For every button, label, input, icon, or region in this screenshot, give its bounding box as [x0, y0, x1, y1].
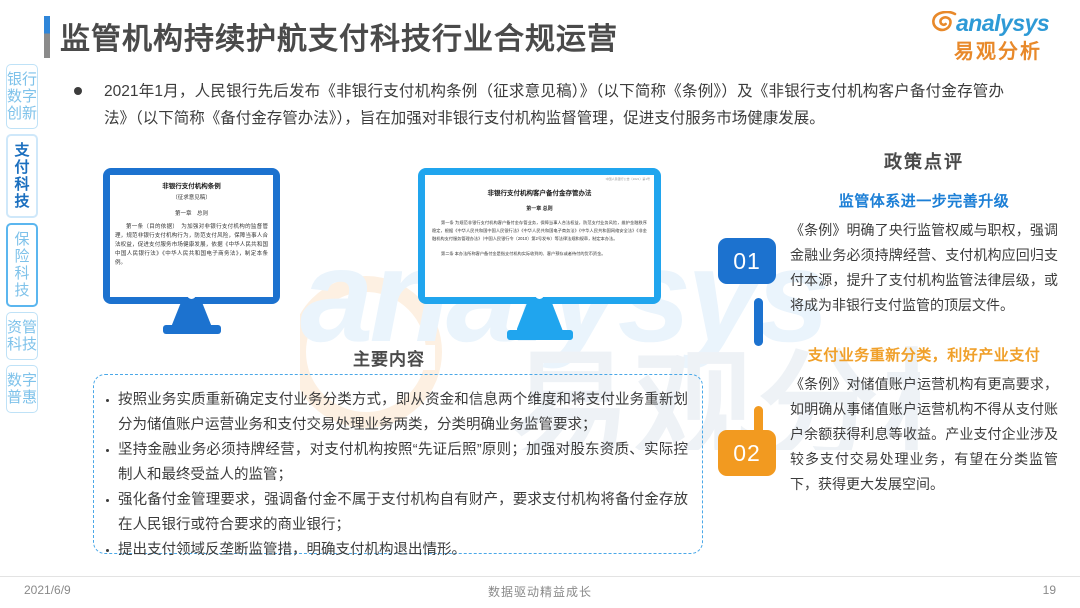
monitor-bezel: 非银行支付机构条例 （征求意见稿） 第一章 总则 第一条（目的依据） 为加强对非…: [103, 168, 280, 304]
commentary-heading: 支付业务重新分类，利好产业支付: [790, 344, 1058, 365]
footer-page-number: 19: [1043, 583, 1056, 597]
document-chapter: 第一章 总则: [425, 205, 654, 212]
monitor-bezel: 中国人民银行公告〔2021〕第1号 非银行支付机构客户备付金存管办法 第一章 总…: [418, 168, 661, 304]
document-title: 非银行支付机构客户备付金存管办法: [425, 187, 654, 197]
bullet-dot-icon: [74, 87, 82, 95]
monitor-stand-base: [507, 330, 573, 340]
logo-swoosh-icon: [932, 11, 958, 33]
monitor-regulation-document: 非银行支付机构条例 （征求意见稿） 第一章 总则 第一条（目的依据） 为加强对非…: [103, 168, 280, 304]
page-title: 监管机构持续护航支付科技行业合规运营: [60, 14, 618, 58]
monitor-stand-neck: [172, 304, 212, 326]
logo-en-text: analysys: [956, 10, 1049, 37]
commentary-body: 《条例》明确了央行监管权威与职权，强调金融业务必须持牌经营、支付机构应回归支付本…: [790, 218, 1058, 318]
title-accent-bar: [44, 16, 50, 58]
document-stamp: 中国人民银行公告〔2021〕第1号: [425, 177, 650, 181]
badge-number-01: 01: [718, 238, 776, 284]
footer: 2021/6/9 数据驱动精益成长 19: [0, 580, 1080, 606]
list-item: 坚持金融业务必须持牌经营，对支付机构按照“先证后照”原则；加强对股东资质、实际控…: [102, 438, 688, 488]
document-body-second: 第二条 本办法所称客户备付金是指支付机构实际收到的、客户预存或者待付的货币资金。: [432, 250, 647, 258]
monitor-custody-document: 中国人民银行公告〔2021〕第1号 非银行支付机构客户备付金存管办法 第一章 总…: [418, 168, 661, 304]
sidebar-item-label: 支付科技: [8, 142, 36, 210]
sidebar-item-payment-tech[interactable]: 支付科技: [6, 134, 38, 218]
monitor-screen: 中国人民银行公告〔2021〕第1号 非银行支付机构客户备付金存管办法 第一章 总…: [425, 175, 654, 297]
main-content-list: 按照业务实质重新确定支付业务分类方式，即从资金和信息两个维度和将支付业务重新划分…: [94, 375, 702, 563]
sidebar-item-label: 数字普惠: [7, 372, 37, 406]
commentary-heading: 监管体系进一步完善升级: [790, 190, 1058, 211]
sidebar-item-digital-inclusive-finance[interactable]: 数字普惠: [6, 365, 38, 413]
policy-commentary-panel: 政策点评 监管体系进一步完善升级 《条例》明确了央行监管权威与职权，强调金融业务…: [790, 148, 1058, 523]
intro-text: 2021年1月，人民银行先后发布《非银行支付机构条例（征求意见稿）》（以下简称《…: [104, 78, 1004, 132]
document-title: 非银行支付机构条例: [110, 180, 273, 190]
sidebar-item-label: 保险科技: [8, 231, 36, 299]
intro-paragraph: 2021年1月，人民银行先后发布《非银行支付机构条例（征求意见稿）》（以下简称《…: [74, 78, 1004, 132]
sidebar-item-asset-management-tech[interactable]: 资管科技: [6, 312, 38, 360]
monitor-stand-base: [163, 325, 221, 334]
logo-cn-text: 易观分析: [954, 35, 1042, 64]
monitor-power-dot-icon: [187, 290, 196, 299]
sidebar-item-label: 银行数字创新: [7, 71, 37, 122]
footer-slogan: 数据驱动精益成长: [0, 583, 1080, 600]
document-body: 第一条 为规范非银行支付机构客户备付金存管业务，保障当事人合法权益，防范支付业务…: [432, 219, 647, 243]
list-item: 按照业务实质重新确定支付业务分类方式，即从资金和信息两个维度和将支付业务重新划分…: [102, 388, 688, 438]
document-body: 第一条（目的依据） 为加强对非银行支付机构的监督管理，规范非银行支付机构行为，防…: [115, 223, 268, 268]
document-chapter: 第一章 总则: [110, 209, 273, 217]
document-subtitle: （征求意见稿）: [110, 193, 273, 201]
sidebar-item-insurance-tech[interactable]: 保险科技: [6, 223, 38, 307]
monitor-power-dot-icon: [535, 290, 544, 299]
sidebar-item-bank-digital-innovation[interactable]: 银行数字创新: [6, 64, 38, 129]
list-item: 提出支付领域反垄断监管措，明确支付机构退出情形。: [102, 538, 688, 563]
commentary-body: 《条例》对储值账户运营机构有更高要求，如明确从事储值账户运营机构不得从支付账户余…: [790, 372, 1058, 497]
commentary-block-one: 监管体系进一步完善升级 《条例》明确了央行监管权威与职权，强调金融业务必须持牌经…: [790, 190, 1058, 318]
footer-divider: [0, 576, 1080, 577]
sidebar-item-label: 资管科技: [7, 319, 37, 353]
monitor-screen: 非银行支付机构条例 （征求意见稿） 第一章 总则 第一条（目的依据） 为加强对非…: [110, 175, 273, 297]
main-content-label: 主要内容: [343, 345, 435, 370]
commentary-accent-blue: [754, 298, 763, 346]
monitor-stand-neck: [517, 304, 563, 330]
commentary-panel-title: 政策点评: [790, 148, 1058, 174]
analysys-logo: analysys 易观分析: [930, 8, 1060, 62]
commentary-block-two: 支付业务重新分类，利好产业支付 《条例》对储值账户运营机构有更高要求，如明确从事…: [790, 344, 1058, 497]
sidebar-nav: 银行数字创新 支付科技 保险科技 资管科技 数字普惠: [6, 64, 40, 418]
main-content-box: 按照业务实质重新确定支付业务分类方式，即从资金和信息两个维度和将支付业务重新划分…: [93, 374, 703, 554]
list-item: 强化备付金管理要求，强调备付金不属于支付机构自有财产，要求支付机构将备付金存放在…: [102, 488, 688, 538]
badge-number-02: 02: [718, 430, 776, 476]
